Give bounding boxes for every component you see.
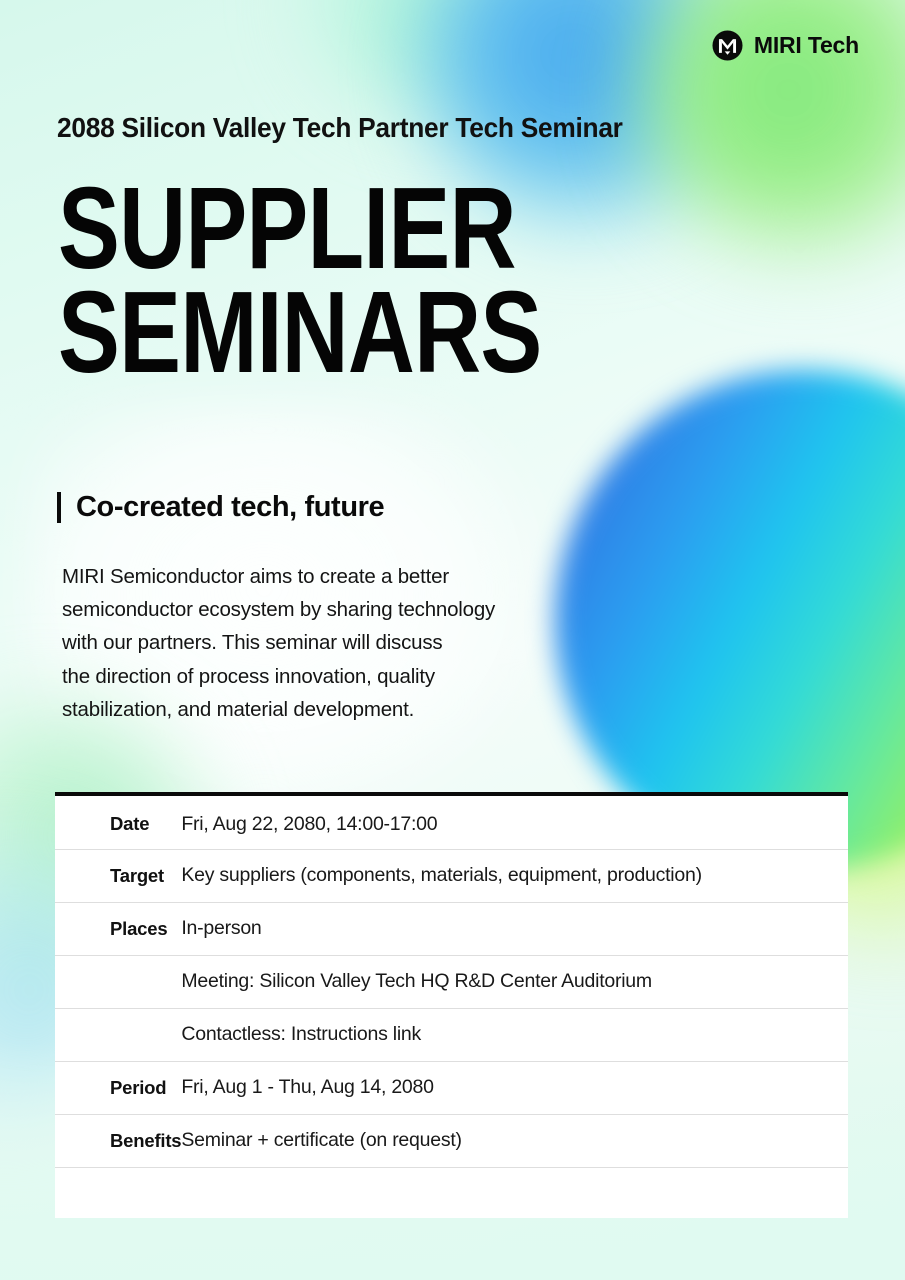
- event-kicker: 2088 Silicon Valley Tech Partner Tech Se…: [57, 112, 623, 144]
- intro-paragraph: MIRI Semiconductor aims to create a bett…: [62, 560, 532, 726]
- table-spacer-row: [55, 1167, 848, 1220]
- table-row: Date Fri, Aug 22, 2080, 14:00-17:00: [55, 796, 848, 849]
- subheading-text: Co-created tech, future: [76, 491, 384, 524]
- row-label: Period: [55, 1061, 181, 1114]
- row-label: Target: [55, 849, 181, 902]
- details-table: Date Fri, Aug 22, 2080, 14:00-17:00 Targ…: [55, 796, 848, 1220]
- subheading-bar-icon: [57, 492, 61, 523]
- paragraph-line: the direction of process innovation, qua…: [62, 660, 532, 693]
- poster-canvas: MIRI Tech 2088 Silicon Valley Tech Partn…: [0, 0, 905, 1280]
- table-row: Period Fri, Aug 1 - Thu, Aug 14, 2080: [55, 1061, 848, 1114]
- table-row: Places In-person: [55, 902, 848, 955]
- paragraph-line: stabilization, and material development.: [62, 693, 532, 726]
- spacer-cell: [181, 1167, 848, 1220]
- row-value: In-person: [181, 902, 848, 955]
- table-row: Contactless: Instructions link: [55, 1008, 848, 1061]
- paragraph-line: MIRI Semiconductor aims to create a bett…: [62, 560, 532, 593]
- row-label: Benefits: [55, 1114, 181, 1167]
- row-label: [55, 955, 181, 1008]
- headline-line-2: SEMINARS: [58, 280, 541, 384]
- headline-line-1: SUPPLIER: [58, 176, 541, 280]
- table-row: Target Key suppliers (components, materi…: [55, 849, 848, 902]
- row-value-link[interactable]: Contactless: Instructions link: [181, 1008, 848, 1061]
- brand-lockup: MIRI Tech: [712, 30, 859, 61]
- row-value: Meeting: Silicon Valley Tech HQ R&D Cent…: [181, 955, 848, 1008]
- spacer-cell: [55, 1167, 181, 1220]
- row-value: Fri, Aug 1 - Thu, Aug 14, 2080: [181, 1061, 848, 1114]
- table-row: Benefits Seminar + certificate (on reque…: [55, 1114, 848, 1167]
- row-label: [55, 1008, 181, 1061]
- paragraph-line: with our partners. This seminar will dis…: [62, 626, 532, 659]
- page-title: SUPPLIER SEMINARS: [58, 176, 541, 385]
- row-value: Seminar + certificate (on request): [181, 1114, 848, 1167]
- section-subheading: Co-created tech, future: [57, 491, 384, 524]
- brand-name: MIRI Tech: [754, 32, 859, 59]
- miri-monogram-icon: [712, 30, 743, 61]
- details-card: Date Fri, Aug 22, 2080, 14:00-17:00 Targ…: [55, 792, 848, 1218]
- paragraph-line: semiconductor ecosystem by sharing techn…: [62, 593, 532, 626]
- row-label: Date: [55, 796, 181, 849]
- row-value: Fri, Aug 22, 2080, 14:00-17:00: [181, 796, 848, 849]
- row-label: Places: [55, 902, 181, 955]
- table-row: Meeting: Silicon Valley Tech HQ R&D Cent…: [55, 955, 848, 1008]
- row-value: Key suppliers (components, materials, eq…: [181, 849, 848, 902]
